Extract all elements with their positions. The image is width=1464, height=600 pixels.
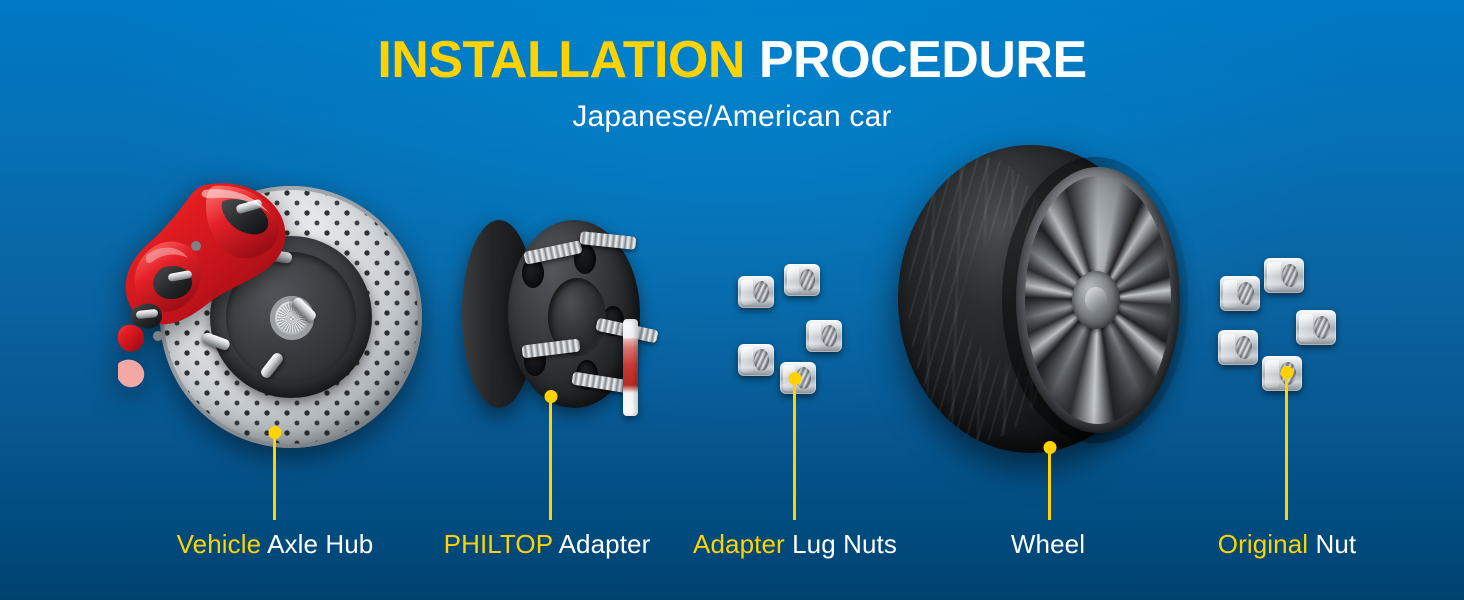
banner-heading: INSTALLATION PROCEDURE Japanese/American… xyxy=(0,34,1464,132)
title-highlight: INSTALLATION xyxy=(377,31,745,89)
caption-wheel: Wheel xyxy=(1011,529,1085,560)
leader-dot xyxy=(1280,366,1293,379)
brake-caliper-icon xyxy=(118,176,308,432)
original-nut xyxy=(1220,276,1260,311)
leader-line-vehicle-axle-hub xyxy=(273,432,276,520)
caption-text: Wheel xyxy=(1011,529,1085,559)
caption-original-nut: Original Nut xyxy=(1218,529,1357,560)
rim-center-cap xyxy=(1072,271,1120,329)
leader-dot xyxy=(544,390,557,403)
caption-text: Axle Hub xyxy=(267,529,373,559)
leader-line-original-nut xyxy=(1285,372,1288,520)
leader-line-wheel xyxy=(1048,447,1051,520)
leader-dot xyxy=(1043,441,1056,454)
adapter-body xyxy=(462,220,640,408)
caption-philtop-adapter: PHILTOP Adapter xyxy=(444,529,651,560)
original-nut xyxy=(1296,310,1336,345)
vehicle-axle-hub-graphic xyxy=(118,176,398,466)
installation-procedure-banner: INSTALLATION PROCEDURE Japanese/American… xyxy=(0,0,1464,600)
caption-adapter-lug-nuts: Adapter Lug Nuts xyxy=(693,529,897,560)
philtop-adapter-graphic xyxy=(452,214,682,434)
leader-dot xyxy=(268,426,281,439)
adapter-lug-nut xyxy=(806,320,842,352)
caption-highlight: Adapter xyxy=(693,529,785,559)
title-rest: PROCEDURE xyxy=(759,31,1087,89)
page-title: INSTALLATION PROCEDURE xyxy=(0,34,1464,86)
original-nut xyxy=(1264,258,1304,293)
caption-highlight: PHILTOP xyxy=(444,529,553,559)
caption-text: Adapter xyxy=(559,529,651,559)
adapter-lug-nut xyxy=(738,276,774,308)
caption-text: Nut xyxy=(1315,529,1356,559)
wheel-graphic xyxy=(898,145,1198,455)
leader-dot xyxy=(788,372,801,385)
leader-line-philtop-adapter xyxy=(549,396,552,520)
caption-highlight: Vehicle xyxy=(177,529,262,559)
original-nut xyxy=(1218,330,1258,365)
caption-text: Lug Nuts xyxy=(792,529,897,559)
thread-locker-pen xyxy=(623,319,638,416)
caption-highlight: Original xyxy=(1218,529,1308,559)
adapter-lug-nut xyxy=(738,344,774,376)
page-subtitle: Japanese/American car xyxy=(0,102,1464,132)
caption-vehicle-axle-hub: Vehicle Axle Hub xyxy=(177,529,374,560)
leader-line-adapter-lug-nuts xyxy=(793,378,796,520)
adapter-lug-nut xyxy=(784,264,820,296)
